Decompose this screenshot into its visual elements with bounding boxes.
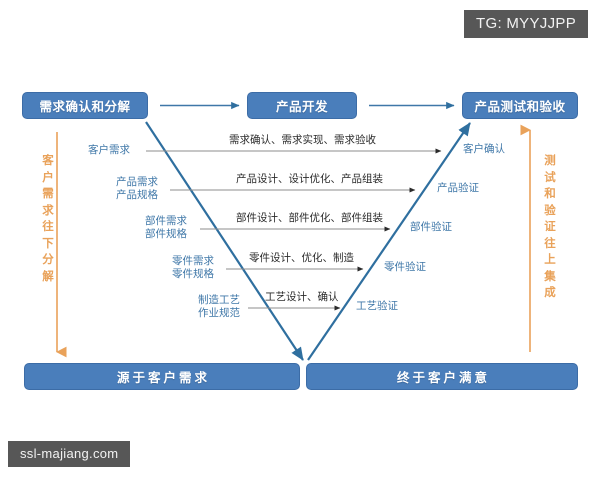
caption-char: 分 bbox=[40, 251, 56, 268]
row-right-label-5: 工艺验证 bbox=[356, 300, 398, 313]
caption-char: 上 bbox=[542, 251, 558, 268]
row-middle-label-4: 零件设计、优化、制造 bbox=[249, 252, 354, 265]
label-line: 零件设计、优化、制造 bbox=[249, 252, 354, 265]
process-box-testing[interactable]: 产品测试和验收 bbox=[462, 92, 578, 119]
label-line: 零件验证 bbox=[384, 261, 426, 274]
label-line: 工艺验证 bbox=[356, 300, 398, 313]
row-left-label-2: 产品需求 产品规格 bbox=[116, 176, 158, 202]
label-line: 工艺设计、确认 bbox=[265, 291, 339, 304]
row-middle-label-1: 需求确认、需求实现、需求验收 bbox=[229, 134, 376, 147]
label-line: 部件需求 bbox=[145, 215, 187, 228]
watermark-bottom: ssl-majiang.com bbox=[8, 441, 130, 467]
right-vertical-caption: 测 试 和 验 证 往 上 集 成 bbox=[542, 152, 558, 301]
label-line: 制造工艺 bbox=[198, 294, 240, 307]
label-line: 产品设计、设计优化、产品组装 bbox=[236, 173, 383, 186]
caption-char: 证 bbox=[542, 218, 558, 235]
caption-char: 户 bbox=[40, 169, 56, 186]
caption-char: 测 bbox=[542, 152, 558, 169]
caption-char: 集 bbox=[542, 268, 558, 285]
row-left-label-1: 客户需求 bbox=[88, 144, 130, 157]
row-right-label-2: 产品验证 bbox=[437, 182, 479, 195]
caption-char: 需 bbox=[40, 185, 56, 202]
caption-char: 往 bbox=[542, 235, 558, 252]
caption-char: 解 bbox=[40, 268, 56, 285]
label-line: 部件验证 bbox=[410, 221, 452, 234]
v-left-leg bbox=[146, 122, 303, 360]
label-line: 产品验证 bbox=[437, 182, 479, 195]
caption-char: 验 bbox=[542, 202, 558, 219]
row-right-label-3: 部件验证 bbox=[410, 221, 452, 234]
process-box-development[interactable]: 产品开发 bbox=[247, 92, 357, 119]
row-left-label-3: 部件需求 部件规格 bbox=[145, 215, 187, 241]
label-line: 零件需求 bbox=[172, 255, 214, 268]
label-line: 部件设计、部件优化、部件组装 bbox=[236, 212, 383, 225]
row-middle-label-2: 产品设计、设计优化、产品组装 bbox=[236, 173, 383, 186]
row-middle-label-5: 工艺设计、确认 bbox=[265, 291, 339, 304]
label-line: 需求确认、需求实现、需求验收 bbox=[229, 134, 376, 147]
left-vertical-caption: 客 户 需 求 往 下 分 解 bbox=[40, 152, 56, 284]
label-line: 客户确认 bbox=[463, 143, 505, 156]
label-line: 部件规格 bbox=[145, 228, 187, 241]
caption-char: 试 bbox=[542, 169, 558, 186]
row-left-label-4: 零件需求 零件规格 bbox=[172, 255, 214, 281]
bottom-box-satisfaction[interactable]: 终于客户满意 bbox=[306, 363, 578, 390]
row-left-label-5: 制造工艺 作业规范 bbox=[198, 294, 240, 320]
label-line: 客户需求 bbox=[88, 144, 130, 157]
caption-char: 求 bbox=[40, 202, 56, 219]
caption-char: 成 bbox=[542, 284, 558, 301]
caption-char: 往 bbox=[40, 218, 56, 235]
connector-layer bbox=[0, 0, 600, 480]
process-box-requirements[interactable]: 需求确认和分解 bbox=[22, 92, 148, 119]
label-line: 零件规格 bbox=[172, 268, 214, 281]
caption-char: 和 bbox=[542, 185, 558, 202]
caption-char: 下 bbox=[40, 235, 56, 252]
watermark-top: TG: MYYJJPP bbox=[464, 10, 588, 38]
caption-char: 客 bbox=[40, 152, 56, 169]
label-line: 作业规范 bbox=[198, 307, 240, 320]
label-line: 产品规格 bbox=[116, 189, 158, 202]
label-line: 产品需求 bbox=[116, 176, 158, 189]
row-middle-label-3: 部件设计、部件优化、部件组装 bbox=[236, 212, 383, 225]
row-right-label-1: 客户确认 bbox=[463, 143, 505, 156]
row-right-label-4: 零件验证 bbox=[384, 261, 426, 274]
bottom-box-origin[interactable]: 源于客户需求 bbox=[24, 363, 300, 390]
diagram-canvas: 需求确认和分解 产品开发 产品测试和验收 源于客户需求 终于客户满意 客 户 需… bbox=[0, 0, 600, 480]
v-right-leg bbox=[308, 123, 470, 360]
